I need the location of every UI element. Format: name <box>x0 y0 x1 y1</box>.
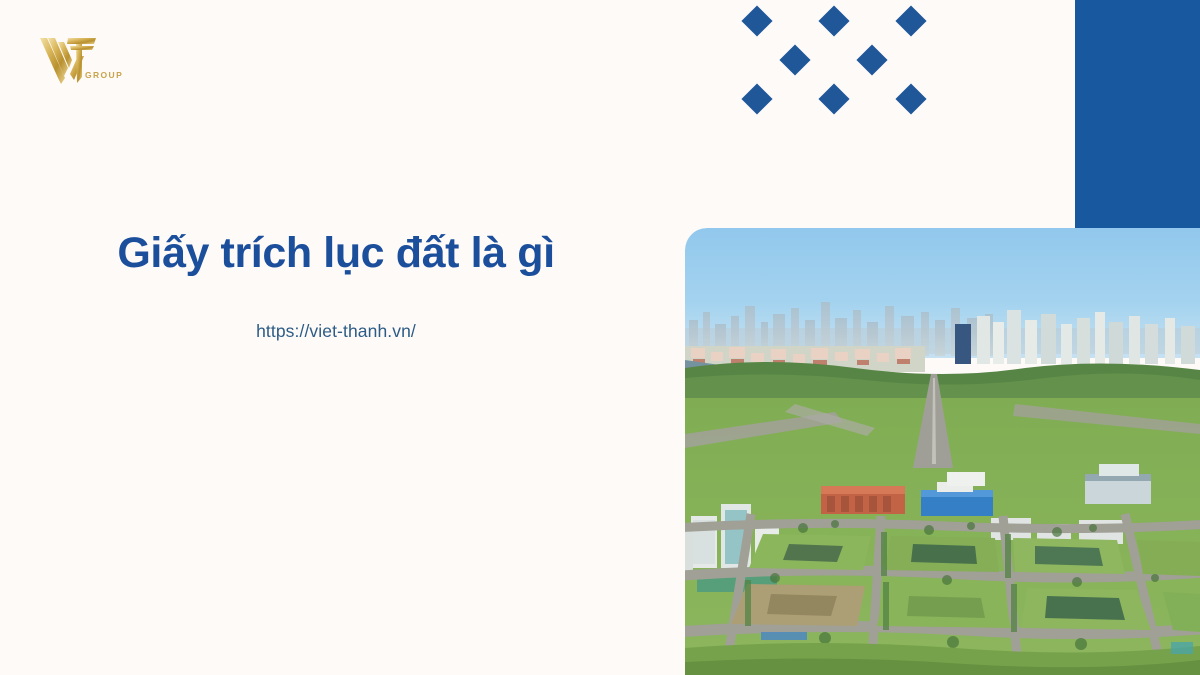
diamond-icon <box>779 44 810 75</box>
brand-wordmark: GROUP <box>85 70 123 80</box>
page-title: Giấy trích lục đất là gì <box>0 228 672 279</box>
diamond-icon <box>818 83 849 114</box>
diamond-icon <box>741 5 772 36</box>
poster-canvas: GROUP Giấy trích lục đất là gì https://v… <box>0 0 1200 675</box>
diamond-icon <box>895 5 926 36</box>
aerial-city-illustration <box>685 228 1200 675</box>
headline-group: Giấy trích lục đất là gì https://viet-th… <box>0 228 672 342</box>
diamond-icon <box>856 44 887 75</box>
site-url-text: https://viet-thanh.vn/ <box>0 279 672 342</box>
diamond-pattern-decor <box>700 0 930 125</box>
blue-side-block <box>1075 0 1200 229</box>
diamond-icon <box>741 83 772 114</box>
diamond-icon <box>818 5 849 36</box>
hero-image <box>685 228 1200 675</box>
vt-monogram-icon <box>34 30 144 92</box>
brand-logo: GROUP <box>34 30 144 92</box>
diamond-icon <box>895 83 926 114</box>
